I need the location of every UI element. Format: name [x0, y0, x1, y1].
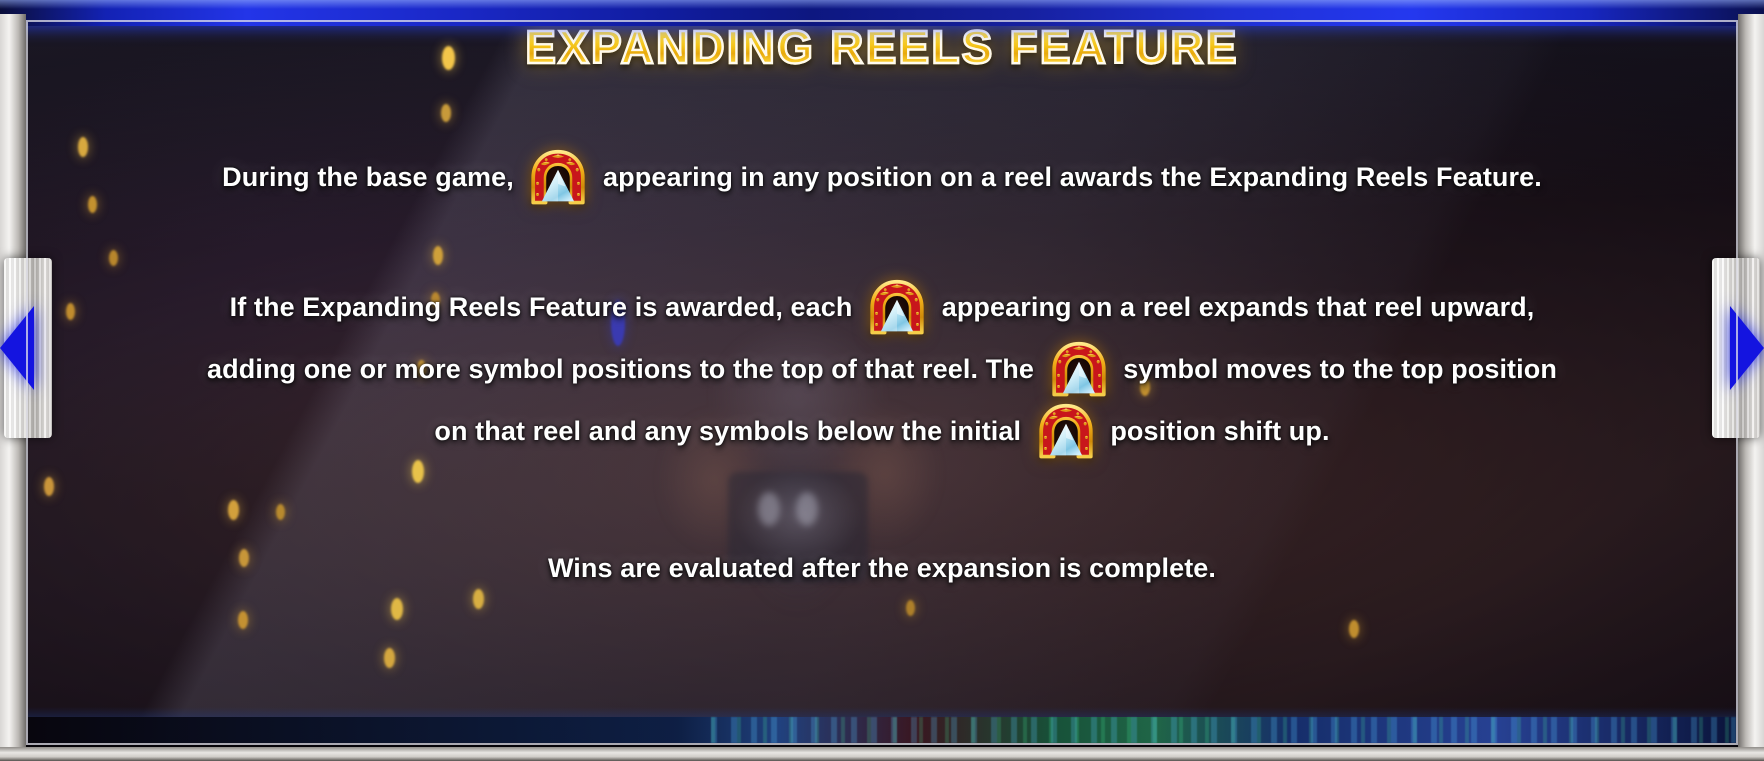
paragraph-wins-note: Wins are evaluated after the expansion i…	[0, 540, 1764, 596]
line-text-after: appearing in any position on a reel awar…	[603, 162, 1542, 192]
text-line: adding one or more symbol positions to t…	[0, 340, 1764, 402]
page-title: EXPANDING REELS FEATURE	[0, 20, 1764, 74]
paragraph-base-game-rule: During the base game, appearing in an	[0, 148, 1764, 210]
bottom-bezel	[0, 747, 1764, 761]
text-line: Wins are evaluated after the expansion i…	[0, 540, 1764, 596]
text-line: on that reel and any symbols below the i…	[0, 402, 1764, 464]
paragraph-feature-award-rule: If the Expanding Reels Feature is awarde…	[0, 278, 1764, 464]
help-screen-content: EXPANDING REELS FEATURE During the base …	[0, 0, 1764, 761]
text-line: During the base game, appearing in an	[0, 148, 1764, 210]
line-text-after: symbol moves to the top position	[1123, 354, 1557, 384]
right-arrow-icon	[1730, 306, 1764, 390]
left-arrow-icon	[0, 306, 34, 390]
line-text-before: If the Expanding Reels Feature is awarde…	[230, 292, 853, 322]
pyramid-horseshoe-symbol	[866, 278, 928, 340]
line-text-before: adding one or more symbol positions to t…	[207, 354, 1034, 384]
next-page-button[interactable]	[1712, 258, 1760, 438]
line-text-after: appearing on a reel expands that reel up…	[942, 292, 1535, 322]
pyramid-horseshoe-symbol	[1048, 340, 1110, 402]
text-line: If the Expanding Reels Feature is awarde…	[0, 278, 1764, 340]
previous-page-button[interactable]	[4, 258, 52, 438]
line-text-before: During the base game,	[222, 162, 514, 192]
line-text-before: on that reel and any symbols below the i…	[434, 416, 1021, 446]
line-text-before: Wins are evaluated after the expansion i…	[548, 553, 1216, 583]
pyramid-horseshoe-symbol	[527, 148, 589, 210]
pyramid-horseshoe-symbol	[1035, 402, 1097, 464]
top-led-strip	[0, 0, 1764, 26]
line-text-after: position shift up.	[1110, 416, 1329, 446]
slot-machine-screen: EXPANDING REELS FEATURE During the base …	[0, 0, 1764, 761]
